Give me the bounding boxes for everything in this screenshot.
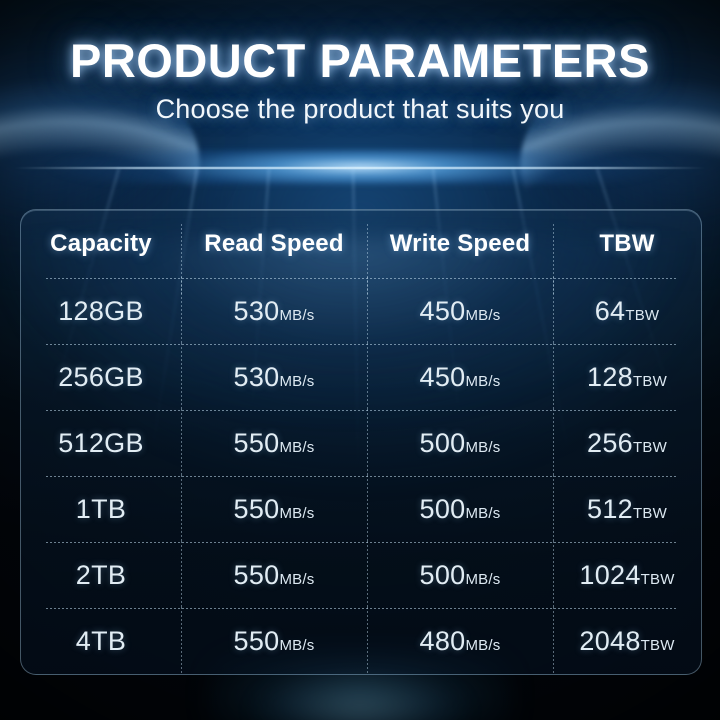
table-row: 4TB 550MB/s 480MB/s 2048TBW xyxy=(21,608,701,674)
cell-capacity: 4TB xyxy=(21,626,181,657)
capacity-value: 2TB xyxy=(76,560,126,590)
write-speed-unit: MB/s xyxy=(465,307,500,324)
tbw-unit: TBW xyxy=(633,439,667,456)
column-header-label: Write Speed xyxy=(390,230,530,257)
bottom-glow-inner xyxy=(255,680,465,720)
cell-capacity: 2TB xyxy=(21,560,181,591)
tbw-value: 64 xyxy=(595,296,626,326)
tbw-value: 512 xyxy=(587,494,633,524)
cell-write-speed: 480MB/s xyxy=(367,626,553,657)
tbw-unit: TBW xyxy=(641,571,675,588)
capacity-value: 4TB xyxy=(76,626,126,656)
read-speed-unit: MB/s xyxy=(279,373,314,390)
read-speed-value: 550 xyxy=(234,494,280,524)
parameters-panel: Capacity Read Speed Write Speed TBW 128G… xyxy=(20,209,702,675)
table-row: 256GB 530MB/s 450MB/s 128TBW xyxy=(21,344,701,410)
write-speed-value: 480 xyxy=(420,626,466,656)
cell-read-speed: 550MB/s xyxy=(181,494,367,525)
page-subtitle: Choose the product that suits you xyxy=(0,94,720,125)
table-row: 1TB 550MB/s 500MB/s 512TBW xyxy=(21,476,701,542)
tbw-unit: TBW xyxy=(625,307,659,324)
tbw-unit: TBW xyxy=(633,505,667,522)
capacity-value: 1TB xyxy=(76,494,126,524)
capacity-value: 128GB xyxy=(58,296,144,326)
table-row: 512GB 550MB/s 500MB/s 256TBW xyxy=(21,410,701,476)
cell-write-speed: 500MB/s xyxy=(367,494,553,525)
read-speed-unit: MB/s xyxy=(279,637,314,654)
cell-tbw: 512TBW xyxy=(553,494,701,525)
write-speed-unit: MB/s xyxy=(465,505,500,522)
read-speed-unit: MB/s xyxy=(279,307,314,324)
cell-capacity: 128GB xyxy=(21,296,181,327)
tbw-unit: TBW xyxy=(633,373,667,390)
read-speed-unit: MB/s xyxy=(279,505,314,522)
table-row: 2TB 550MB/s 500MB/s 1024TBW xyxy=(21,542,701,608)
write-speed-value: 500 xyxy=(420,494,466,524)
product-parameters-banner: PRODUCT PARAMETERS Choose the product th… xyxy=(0,0,720,720)
cell-write-speed: 450MB/s xyxy=(367,296,553,327)
cell-write-speed: 450MB/s xyxy=(367,362,553,393)
write-speed-unit: MB/s xyxy=(465,571,500,588)
read-speed-value: 530 xyxy=(234,362,280,392)
column-header-capacity: Capacity xyxy=(21,230,181,258)
write-speed-unit: MB/s xyxy=(465,637,500,654)
read-speed-value: 530 xyxy=(234,296,280,326)
capacity-value: 256GB xyxy=(58,362,144,392)
cell-tbw: 256TBW xyxy=(553,428,701,459)
column-header-read-speed: Read Speed xyxy=(181,230,367,258)
cell-tbw: 1024TBW xyxy=(553,560,701,591)
cell-write-speed: 500MB/s xyxy=(367,560,553,591)
write-speed-value: 450 xyxy=(420,362,466,392)
read-speed-unit: MB/s xyxy=(279,439,314,456)
write-speed-value: 450 xyxy=(420,296,466,326)
tbw-value: 128 xyxy=(587,362,633,392)
cell-tbw: 2048TBW xyxy=(553,626,701,657)
heading-block: PRODUCT PARAMETERS Choose the product th… xyxy=(0,36,720,125)
cell-write-speed: 500MB/s xyxy=(367,428,553,459)
table-header-row: Capacity Read Speed Write Speed TBW xyxy=(21,210,701,278)
write-speed-value: 500 xyxy=(420,428,466,458)
write-speed-unit: MB/s xyxy=(465,373,500,390)
cell-read-speed: 550MB/s xyxy=(181,428,367,459)
column-header-label: Capacity xyxy=(50,230,152,257)
write-speed-unit: MB/s xyxy=(465,439,500,456)
read-speed-value: 550 xyxy=(234,560,280,590)
cell-tbw: 64TBW xyxy=(553,296,701,327)
tbw-value: 256 xyxy=(587,428,633,458)
cell-tbw: 128TBW xyxy=(553,362,701,393)
tbw-unit: TBW xyxy=(641,637,675,654)
read-speed-unit: MB/s xyxy=(279,571,314,588)
read-speed-value: 550 xyxy=(234,428,280,458)
cell-read-speed: 550MB/s xyxy=(181,626,367,657)
tbw-value: 2048 xyxy=(579,626,640,656)
page-title: PRODUCT PARAMETERS xyxy=(0,36,720,85)
parameters-table: Capacity Read Speed Write Speed TBW 128G… xyxy=(21,210,701,674)
cell-capacity: 512GB xyxy=(21,428,181,459)
table-row: 128GB 530MB/s 450MB/s 64TBW xyxy=(21,278,701,344)
cell-read-speed: 530MB/s xyxy=(181,362,367,393)
cell-read-speed: 530MB/s xyxy=(181,296,367,327)
read-speed-value: 550 xyxy=(234,626,280,656)
capacity-value: 512GB xyxy=(58,428,144,458)
write-speed-value: 500 xyxy=(420,560,466,590)
column-header-write-speed: Write Speed xyxy=(367,230,553,258)
tbw-value: 1024 xyxy=(579,560,640,590)
column-header-tbw: TBW xyxy=(553,230,701,258)
cell-read-speed: 550MB/s xyxy=(181,560,367,591)
cell-capacity: 256GB xyxy=(21,362,181,393)
cell-capacity: 1TB xyxy=(21,494,181,525)
column-header-label: Read Speed xyxy=(204,230,343,257)
column-header-label: TBW xyxy=(599,230,654,257)
